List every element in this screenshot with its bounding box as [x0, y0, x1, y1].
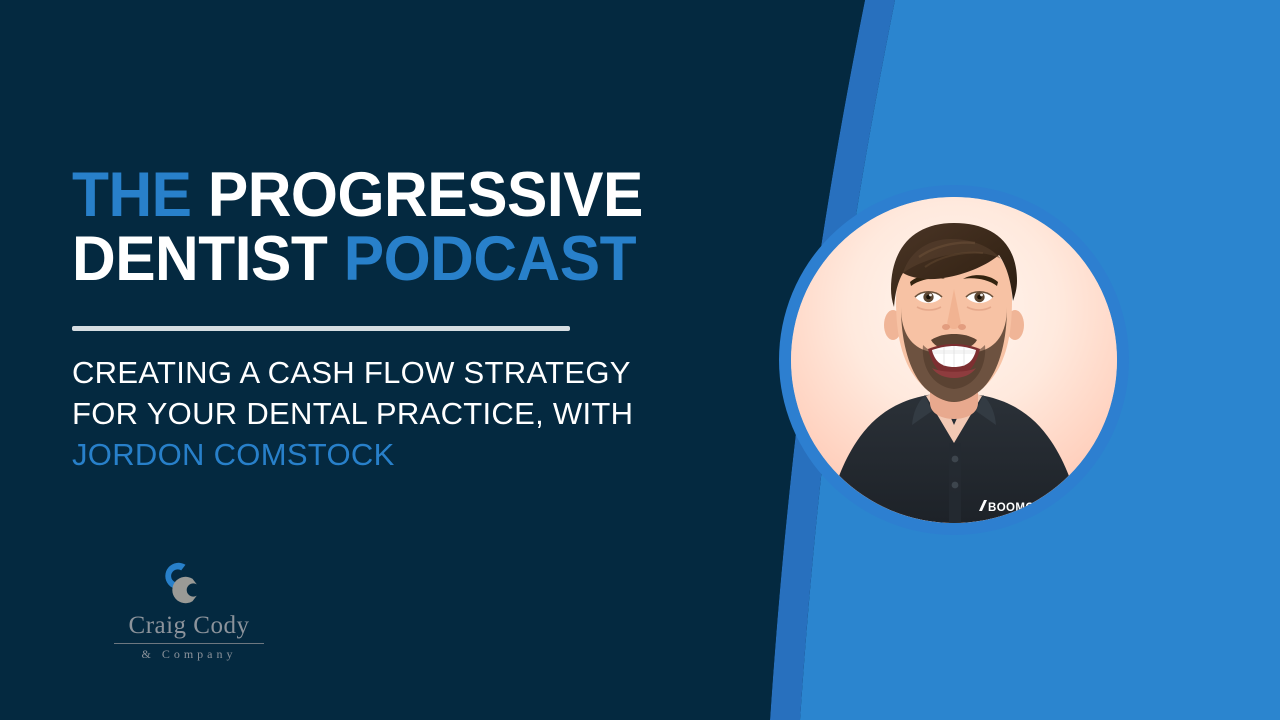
- show-title-podcast: PODCAST: [344, 224, 636, 294]
- show-title-progressive: PROGRESSIVE: [208, 160, 643, 230]
- show-title: THE PROGRESSIVE DENTIST PODCAST: [72, 163, 732, 292]
- show-title-line-2: DENTIST PODCAST: [72, 227, 706, 291]
- podcast-episode-cover: THE PROGRESSIVE DENTIST PODCAST CREATING…: [0, 0, 1280, 720]
- episode-title: CREATING A CASH FLOW STRATEGY FOR YOUR D…: [72, 352, 732, 476]
- craig-cody-logo-suffix: & Company: [94, 648, 284, 661]
- left-content-column: THE PROGRESSIVE DENTIST PODCAST CREATING…: [72, 0, 732, 720]
- title-divider: [72, 326, 570, 331]
- episode-title-line-1: CREATING A CASH FLOW STRATEGY: [72, 352, 732, 393]
- episode-title-line-2: FOR YOUR DENTAL PRACTICE, WITH: [72, 393, 732, 434]
- guest-photo-ring: BOOMCLOUD: [779, 185, 1129, 535]
- show-title-dentist: DENTIST: [72, 224, 327, 294]
- craig-cody-logo: Craig Cody & Company: [94, 560, 284, 661]
- show-title-the: THE: [72, 160, 192, 230]
- craig-cody-logo-name: Craig Cody: [94, 612, 284, 640]
- craig-cody-logo-rule: [114, 643, 264, 644]
- guest-photo: BOOMCLOUD: [791, 197, 1117, 523]
- show-title-line-1: THE PROGRESSIVE: [72, 163, 706, 227]
- episode-guest-name: JORDON COMSTOCK: [72, 434, 732, 475]
- cc-monogram-icon: [156, 560, 222, 606]
